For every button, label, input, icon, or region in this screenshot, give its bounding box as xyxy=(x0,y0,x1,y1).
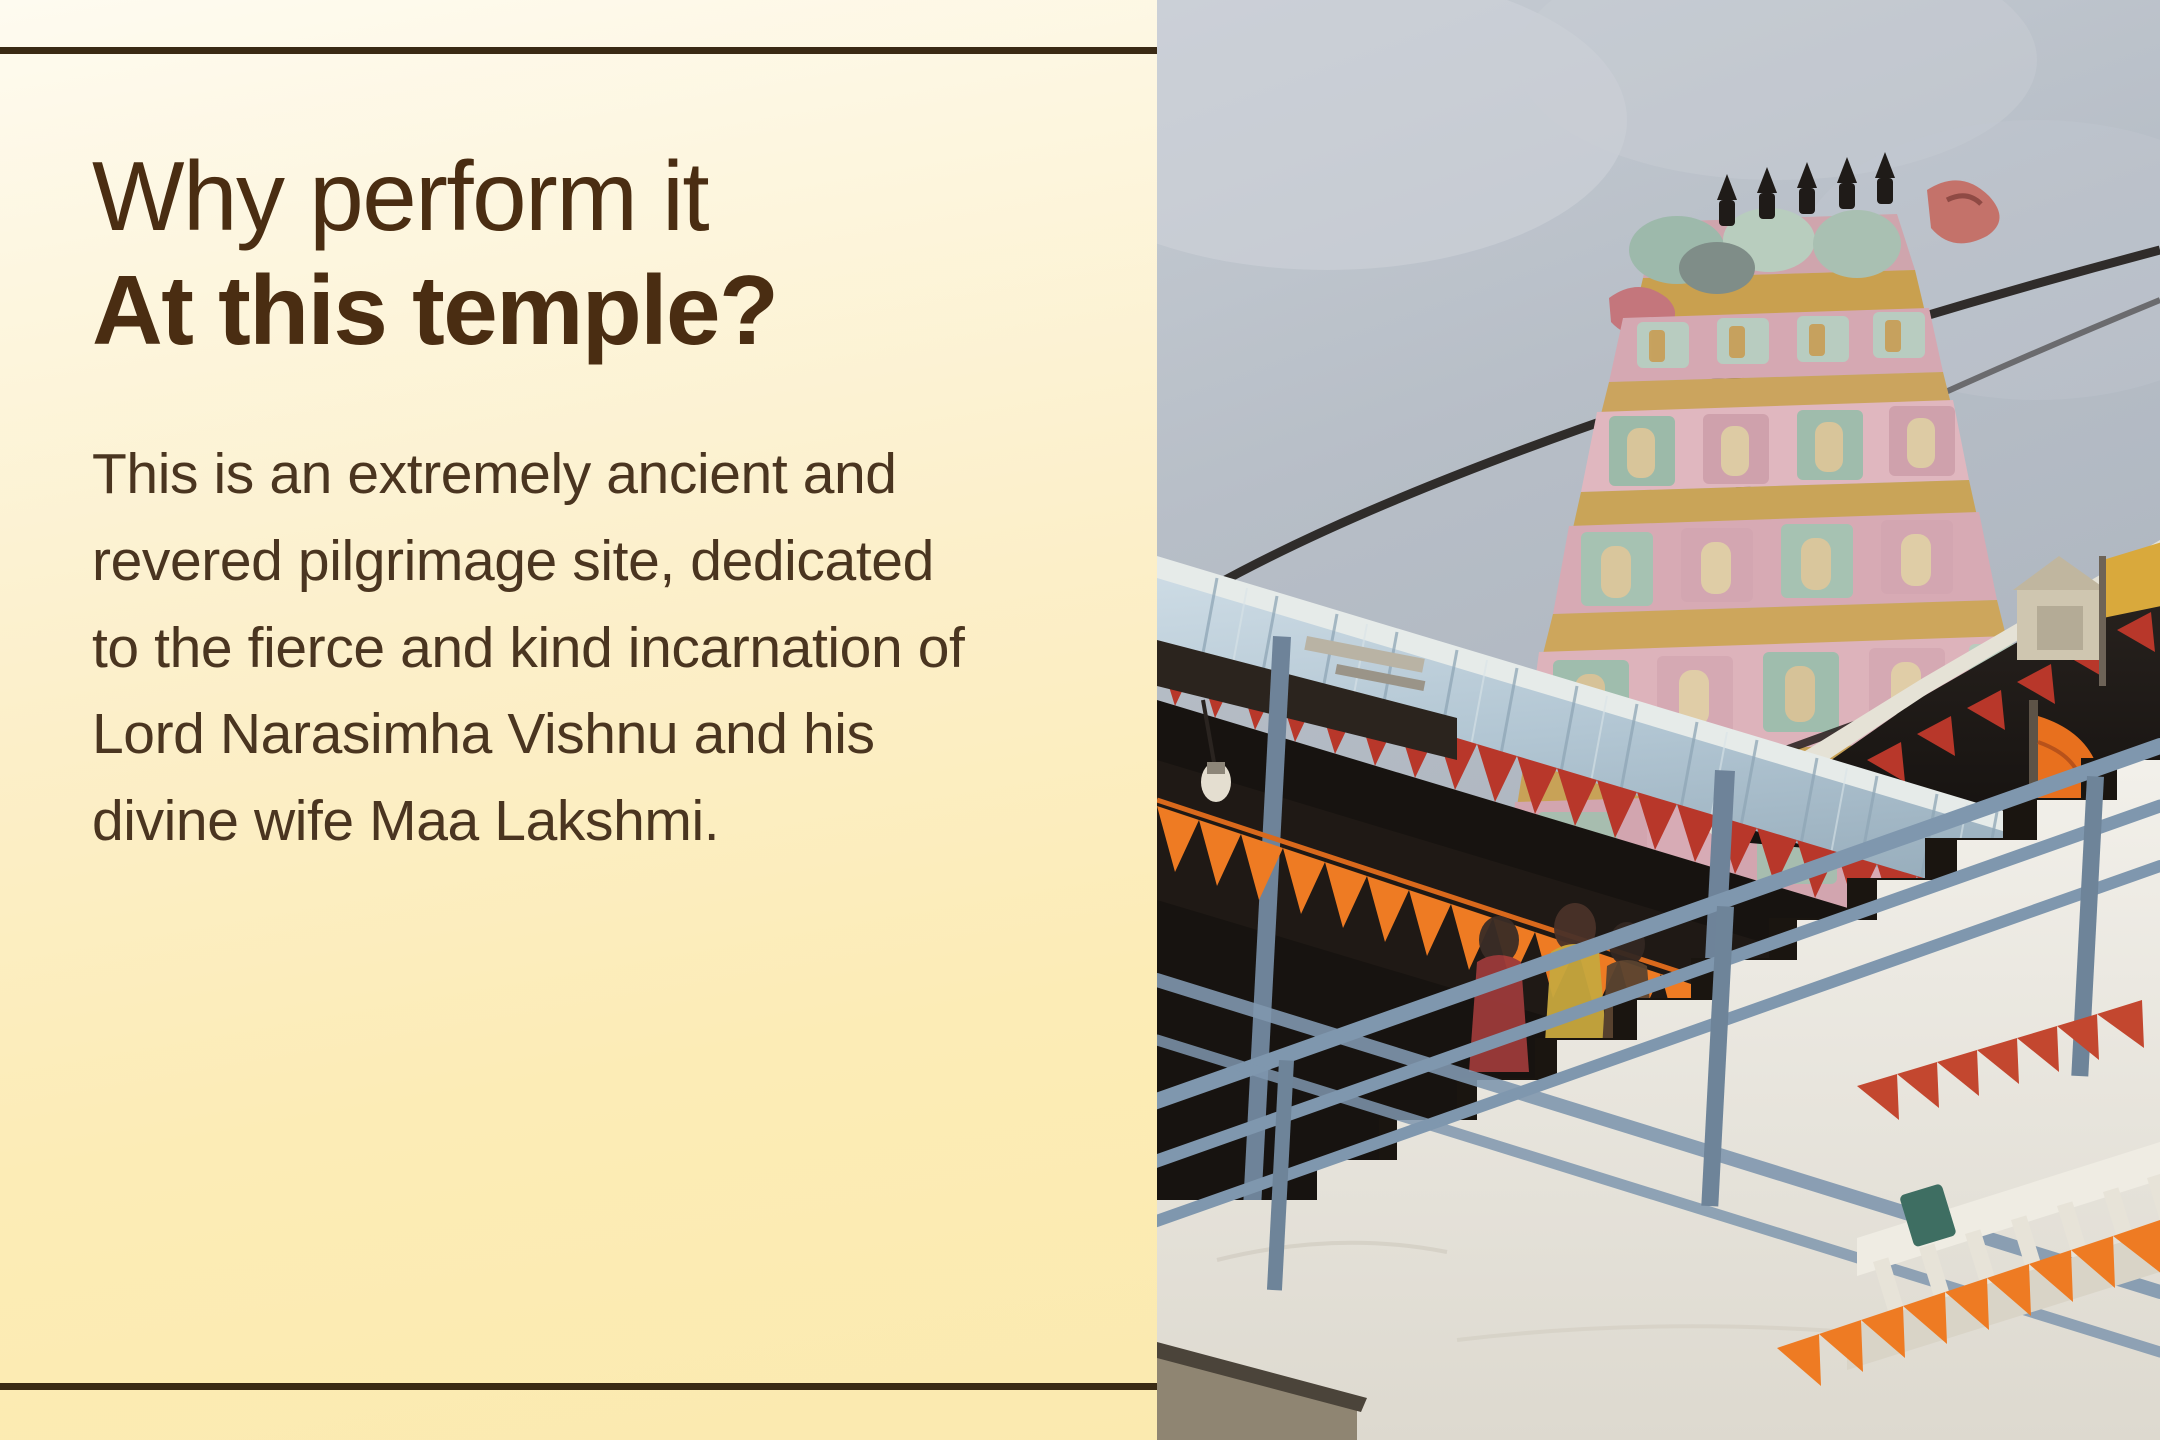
top-divider-rule xyxy=(0,47,1157,54)
text-content: Why perform it At this temple? This is a… xyxy=(92,140,1072,864)
body-paragraph: This is an extremely ancient and revered… xyxy=(92,431,972,864)
slide-root: Why perform it At this temple? This is a… xyxy=(0,0,2160,1440)
temple-photo-illustration xyxy=(1157,0,2160,1440)
temple-photo xyxy=(1157,0,2160,1440)
page-title: Why perform it At this temple? xyxy=(92,140,1072,367)
heading-line-2: At this temple? xyxy=(92,254,1072,368)
text-panel: Why perform it At this temple? This is a… xyxy=(0,0,1157,1440)
bottom-divider-rule xyxy=(0,1383,1157,1390)
heading-line-1: Why perform it xyxy=(92,140,1072,254)
